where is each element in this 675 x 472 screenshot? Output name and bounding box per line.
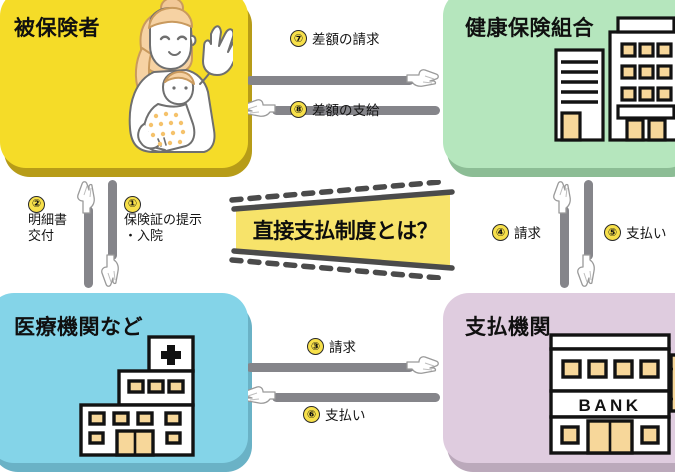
step-text-3: 請求 — [329, 336, 356, 356]
step-badge-5: ⑤ — [604, 224, 621, 241]
arrow-step-2 — [72, 180, 100, 290]
step-badge-2: ② — [28, 196, 45, 213]
step-label-7: ⑦ 差額の請求 — [290, 28, 380, 48]
card-payer[interactable]: 支払機関 — [443, 293, 675, 463]
card-medical-title: 医療機関など — [14, 311, 143, 341]
pointing-hand-up-icon — [76, 180, 100, 214]
step-label-5: ⑤ 支払い — [604, 222, 667, 242]
pointing-hand-down-icon — [100, 254, 124, 288]
card-kenpo[interactable]: 健康保険組合 — [443, 0, 675, 168]
arrow-step-5-bar — [584, 180, 593, 260]
pointing-hand-up-icon — [552, 180, 576, 214]
step-label-1: ① 保険証の提示 ・入院 — [124, 195, 202, 246]
step-label-2: ② 明細書 交付 — [28, 195, 67, 246]
step-text-1-line2: ・入院 — [124, 229, 202, 246]
mother-and-baby-icon — [108, 0, 233, 157]
arrow-step-6 — [240, 359, 442, 383]
step-badge-8: ⑧ — [290, 101, 307, 118]
step-text-1: 保険証の提示 — [124, 213, 202, 230]
step-text-4: 請求 — [514, 222, 541, 242]
arrow-step-1-bar — [108, 180, 117, 260]
step-label-3: ③ 請求 — [307, 336, 356, 356]
step-text-6: 支払い — [325, 404, 366, 424]
step-badge-7: ⑦ — [290, 30, 307, 47]
step-text-2: 明細書 — [28, 213, 67, 230]
step-badge-4: ④ — [492, 224, 509, 241]
card-insured-title: 被保険者 — [14, 12, 100, 42]
arrow-step-6-bar — [272, 393, 440, 402]
arrow-step-4 — [548, 180, 576, 290]
banner-title: 直接支払制度とは？ — [228, 180, 456, 280]
card-insured[interactable]: 被保険者 — [0, 0, 248, 168]
step-label-8: ⑧ 差額の支給 — [290, 99, 380, 119]
bank-facade-text: BANK — [578, 396, 641, 415]
step-badge-6: ⑥ — [303, 406, 320, 423]
card-medical[interactable]: 医療機関など — [0, 293, 248, 463]
step-text-7: 差額の請求 — [312, 28, 380, 48]
diagram-canvas: 被保険者 — [0, 0, 675, 450]
card-kenpo-title: 健康保険組合 — [465, 12, 594, 42]
step-label-4: ④ 請求 — [492, 222, 541, 242]
step-text-8: 差額の支給 — [312, 99, 380, 119]
bank-building-icon: BANK B A N K — [543, 329, 675, 457]
arrow-step-2-bar — [84, 206, 93, 288]
pointing-hand-down-icon — [576, 254, 600, 288]
arrow-step-5 — [576, 180, 604, 290]
arrow-step-8 — [240, 72, 442, 96]
arrow-step-4-bar — [560, 206, 569, 288]
card-payer-title: 支払機関 — [465, 311, 551, 341]
step-badge-1: ① — [124, 196, 141, 213]
step-label-6: ⑥ 支払い — [303, 404, 366, 424]
step-badge-3: ③ — [307, 338, 324, 355]
step-text-2-line2: 交付 — [28, 229, 67, 246]
step-text-5: 支払い — [626, 222, 667, 242]
center-banner: 直接支払制度とは？ — [228, 180, 456, 280]
hospital-building-icon — [73, 335, 213, 457]
